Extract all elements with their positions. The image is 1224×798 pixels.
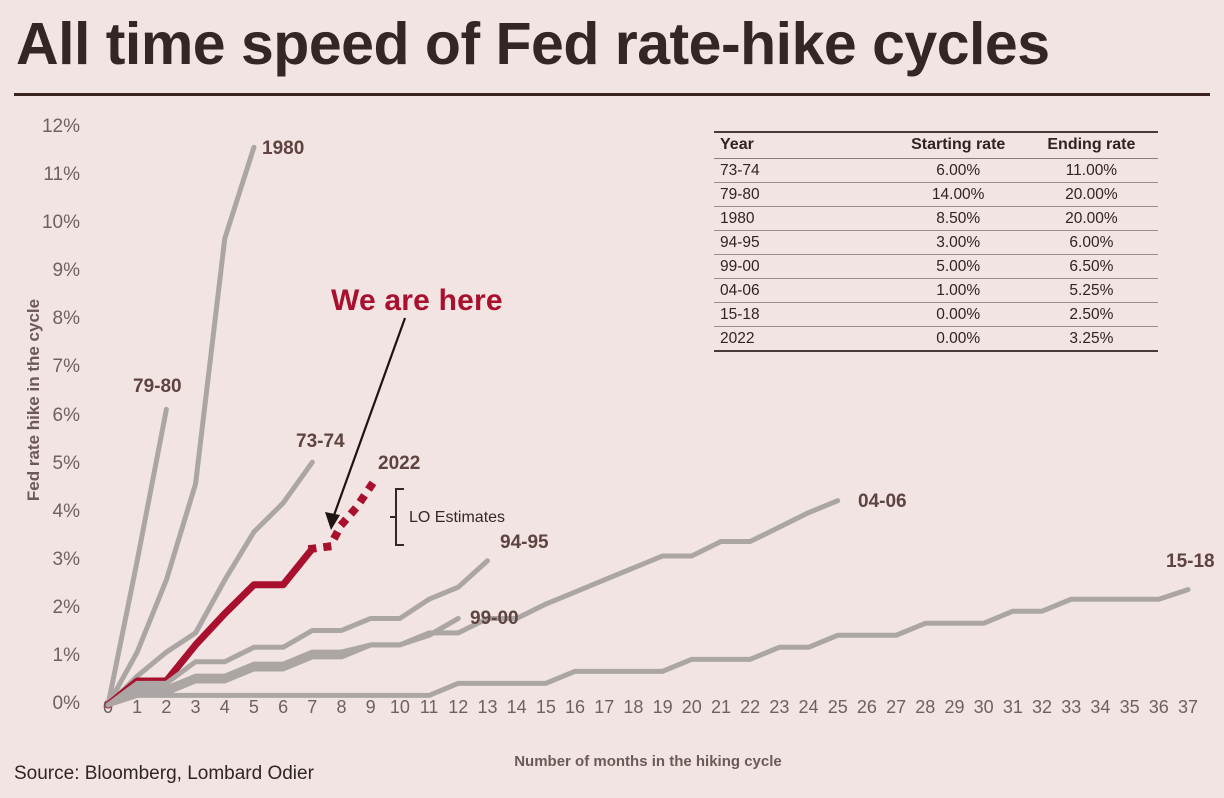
- table-cell-start: 8.50%: [892, 207, 1025, 231]
- table-row: 15-180.00%2.50%: [714, 303, 1158, 327]
- series-label-94-95: 94-95: [500, 532, 549, 554]
- table-cell-year: 73-74: [714, 159, 892, 183]
- series-label-2022: 2022: [378, 453, 420, 475]
- we-are-here-annotation: We are here: [331, 284, 503, 318]
- table-cell-start: 14.00%: [892, 183, 1025, 207]
- lo-estimates-label: LO Estimates: [409, 509, 505, 527]
- series-label-99-00: 99-00: [470, 608, 519, 630]
- table-cell-end: 20.00%: [1025, 183, 1158, 207]
- table-header-end: Ending rate: [1025, 132, 1158, 159]
- table-header-start: Starting rate: [892, 132, 1025, 159]
- table-cell-year: 04-06: [714, 279, 892, 303]
- chart-plot-area: [0, 0, 1224, 798]
- table-cell-end: 3.25%: [1025, 327, 1158, 352]
- table-cell-start: 3.00%: [892, 231, 1025, 255]
- series-line-1980: [108, 147, 254, 705]
- table-cell-start: 1.00%: [892, 279, 1025, 303]
- table-cell-start: 6.00%: [892, 159, 1025, 183]
- table-row: 19808.50%20.00%: [714, 207, 1158, 231]
- table-cell-year: 1980: [714, 207, 892, 231]
- table-cell-year: 94-95: [714, 231, 892, 255]
- table-cell-start: 5.00%: [892, 255, 1025, 279]
- table-cell-end: 6.00%: [1025, 231, 1158, 255]
- series-label-15-18: 15-18: [1166, 551, 1215, 573]
- table-row: 20220.00%3.25%: [714, 327, 1158, 352]
- table-body: 73-746.00%11.00%79-8014.00%20.00%19808.5…: [714, 159, 1158, 352]
- table-cell-year: 79-80: [714, 183, 892, 207]
- table-cell-start: 0.00%: [892, 327, 1025, 352]
- table-row: 04-061.00%5.25%: [714, 279, 1158, 303]
- table-cell-year: 2022: [714, 327, 892, 352]
- table-header-row: Year Starting rate Ending rate: [714, 132, 1158, 159]
- table-head: Year Starting rate Ending rate: [714, 132, 1158, 159]
- table-row: 99-005.00%6.50%: [714, 255, 1158, 279]
- table-cell-end: 6.50%: [1025, 255, 1158, 279]
- table-row: 73-746.00%11.00%: [714, 159, 1158, 183]
- table-row: 94-953.00%6.00%: [714, 231, 1158, 255]
- series-label-1980: 1980: [262, 138, 304, 160]
- table-cell-end: 20.00%: [1025, 207, 1158, 231]
- table-cell-end: 5.25%: [1025, 279, 1158, 303]
- table-cell-year: 99-00: [714, 255, 892, 279]
- series-label-73-74: 73-74: [296, 431, 345, 453]
- rate-cycles-table: Year Starting rate Ending rate 73-746.00…: [714, 131, 1158, 352]
- table-cell-end: 11.00%: [1025, 159, 1158, 183]
- table-cell-end: 2.50%: [1025, 303, 1158, 327]
- lo-estimates-bracket: [390, 489, 404, 545]
- series-label-04-06: 04-06: [858, 491, 907, 513]
- table-row: 79-8014.00%20.00%: [714, 183, 1158, 207]
- table-cell-start: 0.00%: [892, 303, 1025, 327]
- series-label-79-80: 79-80: [133, 376, 182, 398]
- table-cell-year: 15-18: [714, 303, 892, 327]
- table-header-year: Year: [714, 132, 892, 159]
